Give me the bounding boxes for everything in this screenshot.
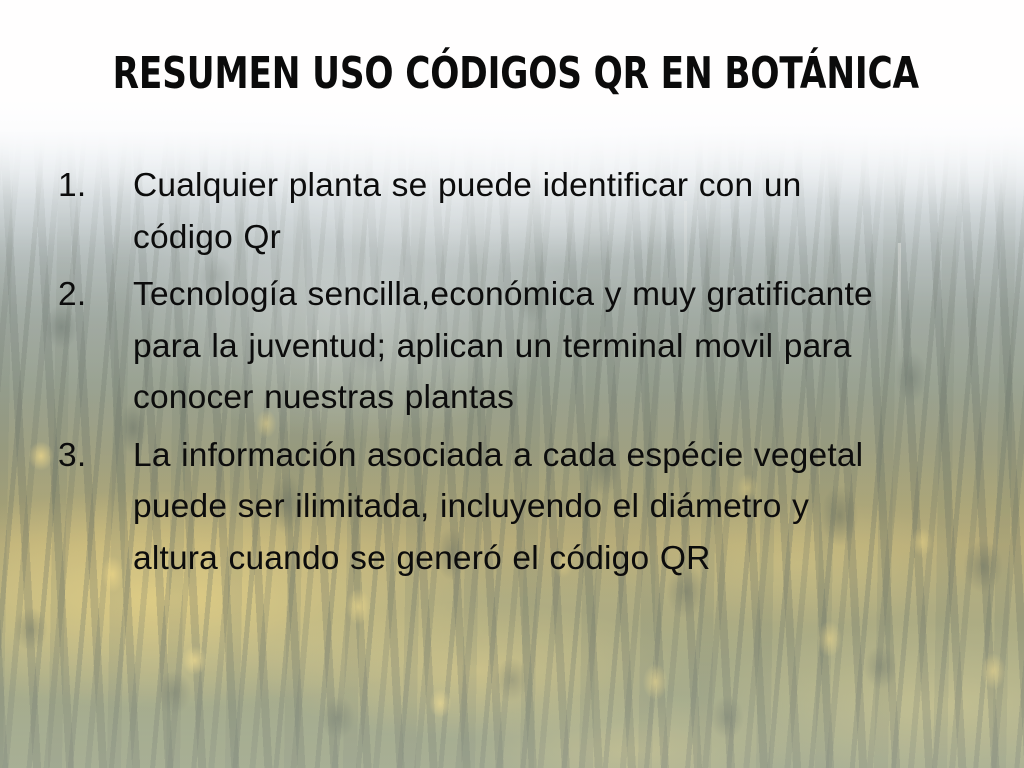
list-item: 1. Cualquier planta se puede identificar…: [58, 160, 904, 263]
list-item: 3. La información asociada a cada espéci…: [58, 430, 904, 585]
slide-title: RESUMEN USO CÓDIGOS QR EN BOTÁNICA: [113, 52, 912, 96]
list-item-text: Cualquier planta se puede identificar co…: [133, 160, 904, 263]
slide-body-clipped: 1. Cualquier planta se puede identificar…: [0, 160, 1024, 677]
numbered-points-list: 1. Cualquier planta se puede identificar…: [0, 160, 1024, 584]
list-item: 2. Tecnología sencilla,económica y muy g…: [58, 269, 904, 424]
presentation-slide: RESUMEN USO CÓDIGOS QR EN BOTÁNICA 1. Cu…: [0, 0, 1024, 768]
list-item-number: 2.: [58, 269, 110, 321]
list-item-text: Tecnología sencilla,económica y muy grat…: [133, 269, 904, 424]
slide-content: RESUMEN USO CÓDIGOS QR EN BOTÁNICA 1. Cu…: [0, 0, 1024, 768]
list-item-number: 3.: [58, 430, 110, 482]
list-item-number: 1.: [58, 160, 110, 212]
list-item-text: La información asociada a cada espécie v…: [133, 430, 904, 585]
